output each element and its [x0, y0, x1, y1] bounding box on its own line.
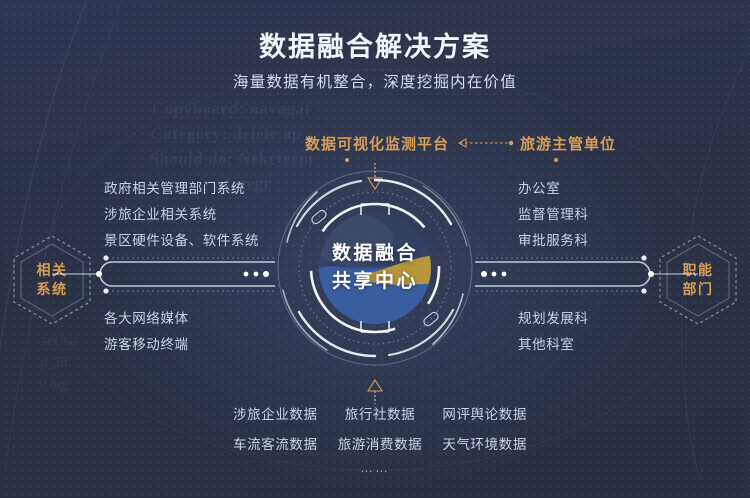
hex-right-line1: 职能	[683, 261, 714, 280]
list-item[interactable]: 涉旅企业相关系统	[104, 202, 259, 228]
hex-left-line2: 系统	[37, 280, 68, 299]
hexagon-right-label: 职能 部门	[654, 232, 742, 328]
left-bottom-source-list: 各大网络媒体 游客移动终端	[104, 306, 189, 358]
top-right-anchor-dot	[554, 158, 558, 162]
list-item[interactable]: 其他科室	[518, 332, 589, 358]
list-item[interactable]: 车流客流数据	[225, 432, 326, 458]
bottom-ellipsis: ……	[0, 460, 750, 475]
data-fusion-core[interactable]: 数据融合 共享中心	[265, 158, 485, 378]
hexagon-functional-departments[interactable]: 职能 部门	[654, 232, 742, 328]
list-item[interactable]: 监督管理科	[518, 202, 589, 228]
right-top-department-list: 办公室 监督管理科 审批服务科	[518, 176, 589, 254]
list-item[interactable]: 游客移动终端	[104, 332, 189, 358]
label-tourism-authority[interactable]: 旅游主管单位	[520, 133, 616, 154]
list-item[interactable]: 旅行社数据	[330, 402, 431, 428]
right-bottom-department-list: 规划发展科 其他科室	[518, 306, 589, 358]
list-item[interactable]: 旅游消费数据	[330, 432, 431, 458]
page-subtitle: 海量数据有机整合，深度挖掘内在价值	[0, 70, 750, 92]
hex-right-line2: 部门	[683, 280, 714, 299]
list-item[interactable]: 网评舆论数据	[434, 402, 535, 428]
left-top-source-list: 政府相关管理部门系统 涉旅企业相关系统 景区硬件设备、软件系统	[104, 176, 259, 254]
list-item[interactable]: 各大网络媒体	[104, 306, 189, 332]
list-item[interactable]: 办公室	[518, 176, 589, 202]
hexagon-related-systems[interactable]: 相关 系统	[8, 232, 96, 328]
list-item[interactable]: 景区硬件设备、软件系统	[104, 228, 259, 254]
infographic-canvas: Copyboard: navagat Category: delete.ap S…	[0, 0, 750, 498]
list-item[interactable]: 审批服务科	[518, 228, 589, 254]
list-item[interactable]: 规划发展科	[518, 306, 589, 332]
page-title: 数据融合解决方案	[0, 25, 750, 64]
hex-left-line1: 相关	[37, 261, 68, 280]
hexagon-left-label: 相关 系统	[8, 232, 96, 328]
list-item[interactable]: 政府相关管理部门系统	[104, 176, 259, 202]
list-item[interactable]: 涉旅企业数据	[225, 402, 326, 428]
top-connector-arrow-icon	[448, 133, 518, 153]
core-rings-graphic	[265, 158, 485, 378]
bottom-data-grid: 涉旅企业数据 旅行社数据 网评舆论数据 车流客流数据 旅游消费数据 天气环境数据	[225, 402, 535, 458]
list-item[interactable]: 天气环境数据	[434, 432, 535, 458]
label-visualization-platform[interactable]: 数据可视化监测平台	[305, 133, 449, 154]
